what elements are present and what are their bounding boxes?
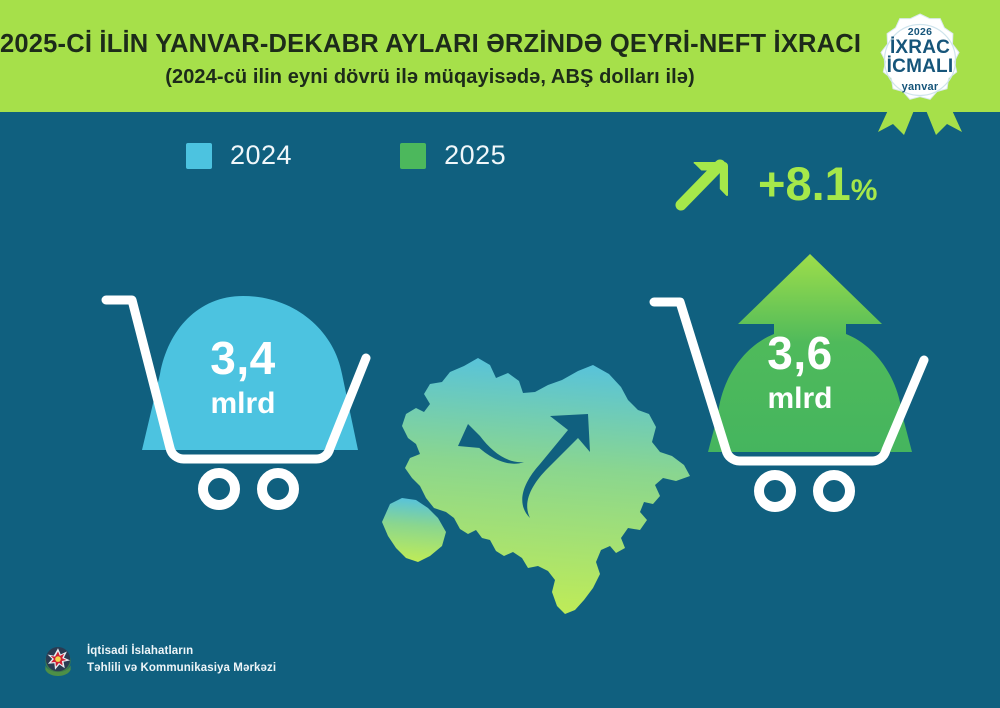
growth-value: +8.1%: [758, 160, 877, 207]
cart-2024-shape: [98, 288, 398, 518]
legend-swatch-2025: [400, 143, 426, 169]
badge-rosette-icon: [845, 0, 995, 136]
legend-swatch-2024: [186, 143, 212, 169]
cart-2025-wheels: [759, 475, 850, 507]
azerbaijan-star-emblem-icon: [40, 642, 76, 678]
footer-org-line-1: İqtisadi İslahatların: [87, 643, 276, 660]
footer-org-name: İqtisadi İslahatların Təhlili və Kommuni…: [87, 643, 276, 676]
cart-2024-load: [142, 296, 358, 450]
growth-indicator: +8.1%: [672, 152, 877, 214]
cart-2025-shape: [650, 242, 960, 518]
title-block: 2025-Cİ İLİN YANVAR-DEKABR AYLARI ƏRZİND…: [0, 30, 860, 89]
export-review-badge: 2026 İXRAC İCMALI yanvar: [845, 0, 995, 136]
arrow-up-right-icon: [672, 152, 734, 214]
cart-2024-wheels: [203, 473, 294, 505]
page-subtitle: (2024-cü ilin eyni dövrü ilə müqayisədə,…: [0, 66, 860, 89]
legend-item-2024: 2024: [186, 140, 292, 171]
legend: 2024 2025: [186, 140, 506, 171]
infographic-canvas: 2025-Cİ İLİN YANVAR-DEKABR AYLARI ƏRZİND…: [0, 0, 1000, 708]
page-title: 2025-Cİ İLİN YANVAR-DEKABR AYLARI ƏRZİND…: [0, 30, 860, 59]
legend-label-2024: 2024: [230, 140, 292, 171]
cart-2025: 3,6 mlrd: [650, 242, 960, 518]
cart-2025-load: [708, 254, 912, 452]
growth-percent-symbol: %: [851, 174, 878, 207]
footer-org-line-2: Təhlili və Kommunikasiya Mərkəzi: [87, 660, 276, 677]
legend-label-2025: 2025: [444, 140, 506, 171]
growth-number: +8.1: [758, 157, 851, 210]
legend-item-2025: 2025: [400, 140, 506, 171]
cart-2024: 3,4 mlrd: [98, 288, 398, 518]
footer: İqtisadi İslahatların Təhlili və Kommuni…: [40, 642, 276, 678]
